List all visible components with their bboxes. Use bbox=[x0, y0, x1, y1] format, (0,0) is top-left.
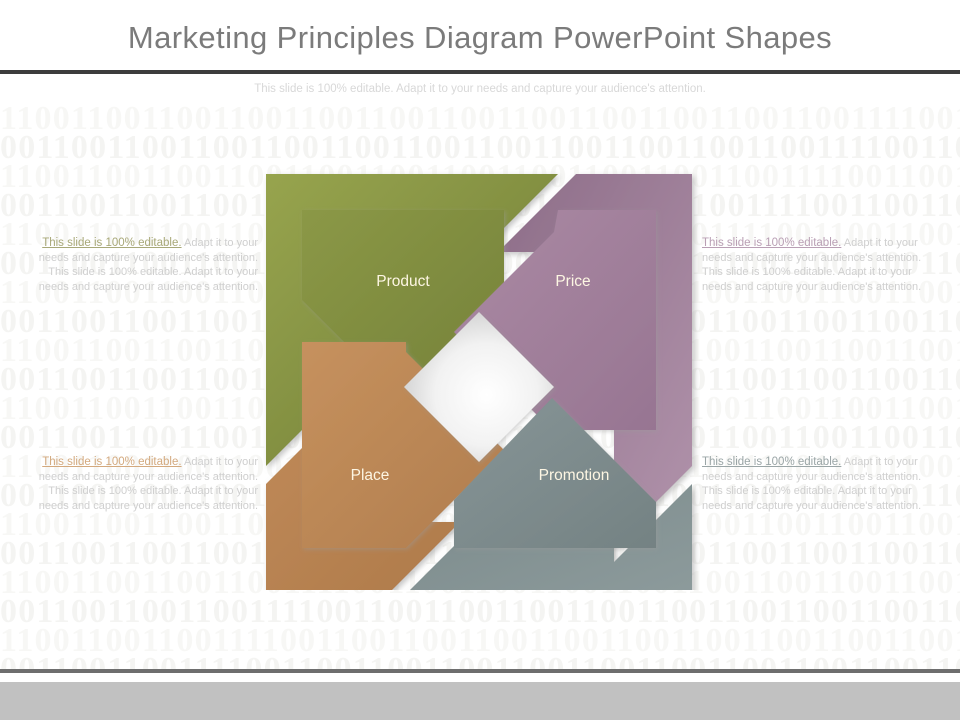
text-block-top-right: This slide is 100% editable. Adapt it to… bbox=[702, 236, 938, 294]
binary-row: 0011001100111100110011001100110011001100… bbox=[0, 655, 960, 670]
text-block-bottom-right: This slide is 100% editable. Adapt it to… bbox=[702, 455, 938, 513]
title-divider bbox=[0, 70, 960, 74]
binary-row: 1100110011001100110011001100110011001100… bbox=[0, 104, 960, 133]
binary-row: 0011001100110011110011001100110011001100… bbox=[0, 597, 960, 626]
shape-label-product: Product bbox=[376, 273, 430, 290]
footer-divider bbox=[0, 669, 960, 673]
slide-canvas: 1100110011001100110011001100110011001100… bbox=[0, 0, 960, 720]
binary-row: 0011001100110011001100110011001100110011… bbox=[0, 133, 960, 162]
text-block-top-left: This slide is 100% editable. Adapt it to… bbox=[22, 236, 258, 294]
binary-row: 1100110011001111001100110011001100110011… bbox=[0, 626, 960, 655]
footer-band bbox=[0, 682, 960, 720]
text-block-lead: This slide is 100% editable. bbox=[702, 456, 841, 468]
shape-label-price: Price bbox=[555, 273, 590, 290]
marketing-4p-diagram: Product Price Place Promotion bbox=[258, 166, 700, 590]
text-block-bottom-left: This slide is 100% editable. Adapt it to… bbox=[22, 455, 258, 513]
shape-label-promotion: Promotion bbox=[539, 467, 610, 484]
page-title: Marketing Principles Diagram PowerPoint … bbox=[0, 20, 960, 56]
text-block-lead: This slide is 100% editable. bbox=[42, 237, 181, 249]
page-subtitle: This slide is 100% editable. Adapt it to… bbox=[0, 83, 960, 95]
shape-label-place: Place bbox=[351, 467, 390, 484]
text-block-lead: This slide is 100% editable. bbox=[702, 237, 841, 249]
text-block-lead: This slide is 100% editable. bbox=[42, 456, 181, 468]
